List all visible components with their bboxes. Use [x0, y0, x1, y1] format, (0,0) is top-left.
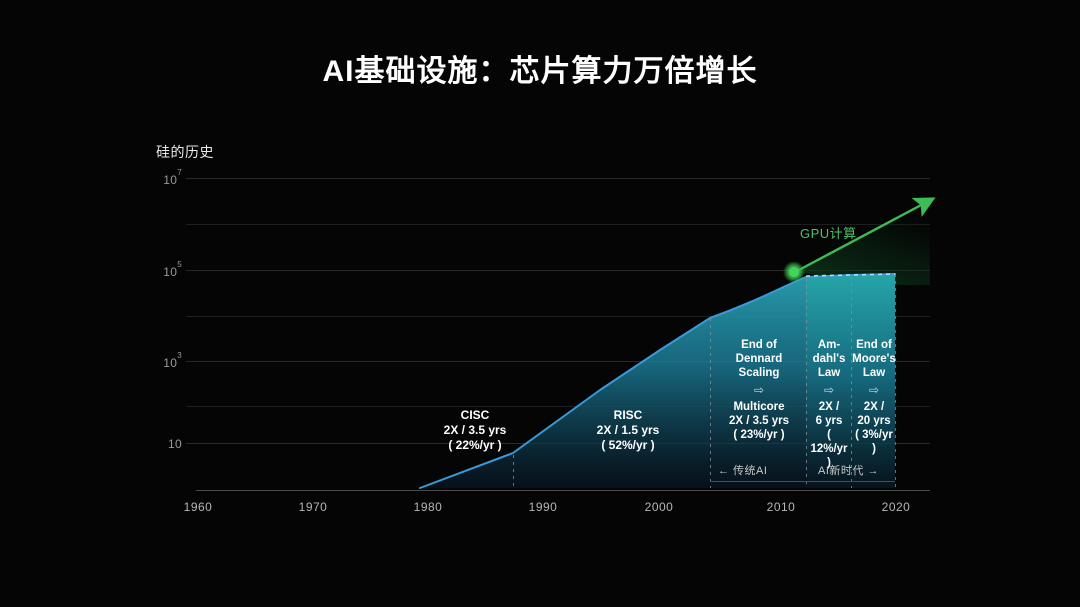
era-amdahl-head-1: Am-: [818, 339, 840, 351]
era-dennard-result-1: Multicore: [733, 401, 784, 413]
annotation-risc: RISC 2X / 1.5 yrs ( 52%/yr ): [573, 408, 683, 453]
era-column-amdahl: Am- dahl's Law ⇨ 2X / 6 yrs ( 12%/yr ): [807, 338, 851, 470]
y-tick-label: 105: [148, 264, 182, 279]
era-moore-head-1: End of: [856, 339, 892, 351]
era-amdahl-arrow-icon: ⇨: [807, 383, 851, 397]
x-tick-label-1980: 1980: [398, 500, 458, 514]
era-dennard-arrow-icon: ⇨: [712, 383, 806, 397]
chart-canvas: [0, 0, 1080, 607]
annotation-new-ai-era: AI新时代 →: [818, 462, 879, 478]
x-tick-label-2000: 2000: [629, 500, 689, 514]
y-tick-label: 107: [148, 172, 182, 187]
era-column-dennard: End of Dennard Scaling ⇨ Multicore 2X / …: [712, 338, 806, 442]
annotation-risc-rate: 2X / 1.5 yrs: [597, 423, 660, 437]
era-dennard-result-2: 2X / 3.5 yrs: [729, 415, 789, 427]
gpu-computing-label: GPU计算: [800, 223, 857, 242]
y-tick-label: 103: [148, 355, 182, 370]
y-tick-label: 10: [148, 437, 182, 451]
annotation-cisc: CISC 2X / 3.5 yrs ( 22%/yr ): [420, 408, 530, 453]
era-moore-result-1: 2X /: [864, 401, 884, 413]
era-moore-result-3: ( 3%/yr ): [855, 429, 893, 455]
annotation-risc-name: RISC: [614, 408, 643, 422]
x-tick-label-1990: 1990: [513, 500, 573, 514]
era-column-moore: End of Moore's Law ⇨ 2X / 20 yrs ( 3%/yr…: [852, 338, 896, 456]
x-tick-label-2020: 2020: [866, 500, 926, 514]
era-moore-arrow-icon: ⇨: [852, 383, 896, 397]
annotation-cisc-pct: ( 22%/yr ): [448, 438, 501, 452]
era-amdahl-result-1: 2X /: [819, 401, 839, 413]
era-moore-head-2: Moore's: [852, 353, 896, 365]
x-tick-label-2010: 2010: [751, 500, 811, 514]
era-dennard-head-3: Scaling: [739, 367, 780, 379]
era-dennard-head-2: Dennard: [736, 353, 783, 365]
annotation-traditional-ai: ← 传统AI: [718, 462, 767, 478]
annotation-cisc-rate: 2X / 3.5 yrs: [444, 423, 507, 437]
x-tick-label-1960: 1960: [168, 500, 228, 514]
x-tick-label-1970: 1970: [283, 500, 343, 514]
era-amdahl-result-2: 6 yrs: [816, 415, 843, 427]
slide-canvas: AI基础设施：芯片算力万倍增长 硅的历史: [0, 0, 1080, 607]
era-dennard-result-3: ( 23%/yr ): [733, 429, 784, 441]
era-amdahl-head-3: Law: [818, 367, 840, 379]
annotation-risc-pct: ( 52%/yr ): [601, 438, 654, 452]
era-amdahl-head-2: dahl's: [813, 353, 846, 365]
era-moore-head-3: Law: [863, 367, 885, 379]
gpu-origin-dot: [789, 267, 799, 277]
era-moore-result-2: 20 yrs: [857, 415, 890, 427]
gpu-glow-region: [794, 200, 930, 285]
annotation-cisc-name: CISC: [461, 408, 490, 422]
era-dennard-head-1: End of: [741, 339, 777, 351]
